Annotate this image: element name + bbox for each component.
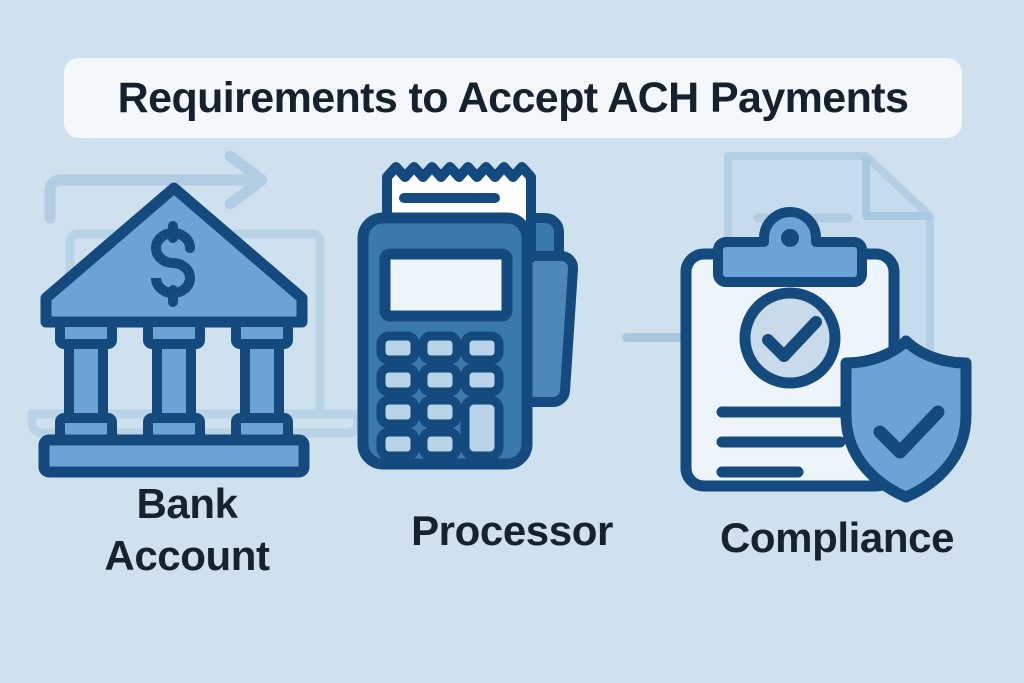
- column-compliance: Compliance: [672, 150, 1002, 580]
- column-label-line: Compliance: [672, 512, 1002, 564]
- infographic-canvas: Requirements to Accept ACH Payments: [0, 0, 1024, 683]
- terminal-display: [385, 254, 507, 316]
- column-label-line: Bank: [22, 478, 352, 530]
- dollar-sign-icon: [156, 226, 190, 302]
- column-label-line: Processor: [347, 505, 677, 557]
- bank-base: [44, 440, 304, 472]
- column-label-processor: Processor: [347, 505, 677, 557]
- shield-check-icon: [846, 341, 966, 497]
- bank-columns: [60, 322, 288, 440]
- column-label-bank-account: Bank Account: [22, 478, 352, 582]
- title-card: Requirements to Accept ACH Payments: [64, 58, 962, 138]
- compliance-clipboard-shield-icon: [672, 150, 1002, 490]
- compliance-icon-stage: [672, 150, 1002, 490]
- card-payment-terminal-icon: [347, 150, 677, 490]
- bank-building-icon: [22, 150, 352, 490]
- terminal-keypad: [381, 336, 499, 456]
- column-processor: Processor: [347, 150, 677, 580]
- page-title: Requirements to Accept ACH Payments: [118, 74, 909, 123]
- check-circle-icon: [745, 293, 835, 383]
- column-label-line: Account: [22, 530, 352, 582]
- column-bank-account: Bank Account: [22, 150, 352, 580]
- bank-account-icon-stage: [22, 150, 352, 490]
- processor-icon-stage: [347, 150, 677, 490]
- column-label-compliance: Compliance: [672, 512, 1002, 564]
